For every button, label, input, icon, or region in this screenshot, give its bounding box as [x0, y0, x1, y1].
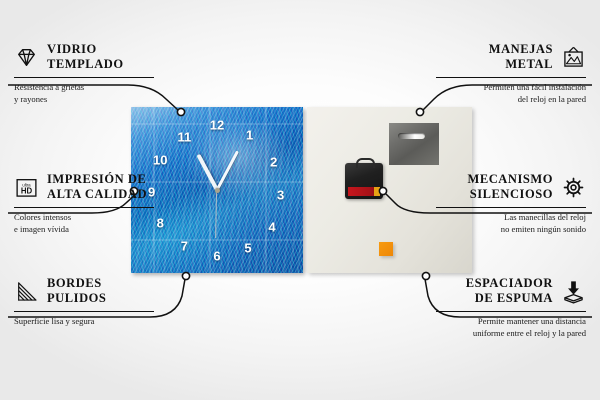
- svg-text:HD: HD: [21, 186, 33, 195]
- feature-desc-line-2: no emiten ningún sonido: [436, 223, 586, 235]
- feature-rule: [14, 77, 154, 78]
- feature-desc-line-1: Superficie lisa y segura: [14, 315, 154, 327]
- feature-bordes-pulidos: BORDES PULIDOS Superficie lisa y segura: [14, 276, 154, 327]
- feature-desc-line-2: del reloj en la pared: [436, 93, 586, 105]
- feature-title-line-2: SILENCIOSO: [470, 187, 553, 201]
- connector-dot-bordes: [182, 272, 189, 279]
- feature-rule: [14, 311, 154, 312]
- feature-desc-line-2: y rayones: [14, 93, 154, 105]
- feature-vidrio-templado: VIDRIO TEMPLADO Resistencia a grietas y …: [14, 42, 154, 105]
- connector-dot-mecanismo: [379, 187, 386, 194]
- feature-rule: [436, 77, 586, 78]
- feature-rule: [436, 207, 586, 208]
- feature-title-line-2: ALTA CALIDAD: [47, 187, 147, 201]
- feature-desc-line-1: Permite mantener una distancia: [436, 315, 586, 327]
- feature-mecanismo-silencioso: MECANISMO SILENCIOSO Las manecillas del …: [436, 172, 586, 235]
- connector-dot-vidrio-templado: [177, 108, 184, 115]
- feature-desc-line-2: uniforme entre el reloj y la pared: [436, 327, 586, 339]
- feature-rule: [14, 207, 154, 208]
- feature-desc-line-1: Resistencia a grietas: [14, 81, 154, 93]
- hatched-edge-icon: [14, 279, 39, 304]
- connector-dot-manejas: [416, 108, 423, 115]
- connector-dot-espaciador: [422, 272, 429, 279]
- feature-title-line-1: BORDES: [47, 276, 102, 290]
- feature-manejas-metal: MANEJAS METAL Permiten una fácil instala…: [436, 42, 586, 105]
- feature-desc-line-1: Permiten una fácil instalación: [436, 81, 586, 93]
- feature-title-line-1: MECANISMO: [467, 172, 553, 186]
- feature-title-line-2: PULIDOS: [47, 291, 106, 305]
- feature-title-line-2: TEMPLADO: [47, 57, 124, 71]
- feature-title-line-2: METAL: [505, 57, 553, 71]
- feature-title-line-1: ESPACIADOR: [466, 276, 553, 290]
- picture-hanger-icon: [561, 45, 586, 70]
- feature-desc-line-1: Colores intensos: [14, 211, 154, 223]
- feature-rule: [436, 311, 586, 312]
- diamond-icon: [14, 45, 39, 70]
- foam-spacer-icon: [561, 279, 586, 304]
- ultra-hd-icon: ultra HD: [14, 175, 39, 200]
- feature-title-line-1: VIDRIO: [47, 42, 97, 56]
- infographic-canvas: 12 1 2 3 4 5 6 7 8 9 10 11: [0, 0, 600, 400]
- feature-impresion-alta-calidad: ultra HD IMPRESIÓN DE ALTA CALIDAD Color…: [14, 172, 154, 235]
- gear-icon: [561, 175, 586, 200]
- feature-title-line-1: MANEJAS: [489, 42, 553, 56]
- feature-title-line-2: DE ESPUMA: [475, 291, 553, 305]
- feature-title-line-1: IMPRESIÓN DE: [47, 172, 146, 186]
- feature-desc-line-2: e imagen vívida: [14, 223, 154, 235]
- feature-desc-line-1: Las manecillas del reloj: [436, 211, 586, 223]
- feature-espaciador-espuma: ESPACIADOR DE ESPUMA Permite mantener un…: [436, 276, 586, 339]
